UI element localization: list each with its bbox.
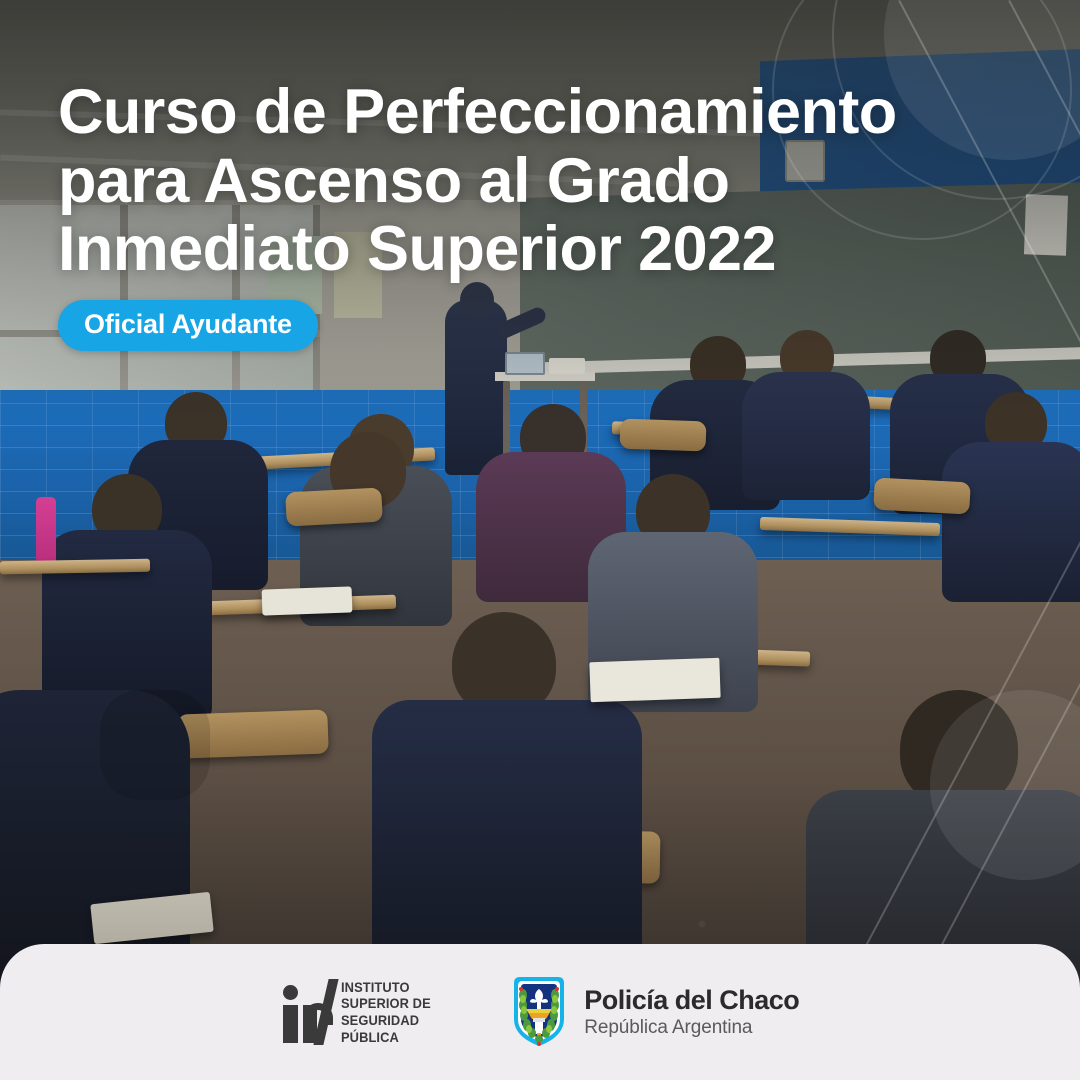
institute-line-1: INSTITUTO — [341, 979, 431, 996]
water-bottle — [36, 497, 56, 567]
student-body — [942, 442, 1080, 602]
chair-back — [873, 478, 971, 515]
i-dot — [283, 985, 298, 1000]
hero-text-block: Curso de Perfeccionamiento para Ascenso … — [58, 78, 1048, 351]
footer-bar: INSTITUTO SUPERIOR DE SEGURIDAD PÚBLICA — [0, 944, 1080, 1080]
institute-line-2: SUPERIOR DE — [341, 995, 431, 1012]
title-line-1: Curso de Perfeccionamiento — [58, 78, 1048, 147]
institute-line-4: PÚBLICA — [341, 1029, 431, 1046]
institute-logo-text: INSTITUTO SUPERIOR DE SEGURIDAD PÚBLICA — [341, 979, 439, 1045]
i-stem — [283, 1005, 298, 1043]
chair-back — [620, 419, 707, 452]
police-logo: Policía del Chaco República Argentina — [510, 975, 799, 1049]
institute-logo: INSTITUTO SUPERIOR DE SEGURIDAD PÚBLICA — [281, 979, 439, 1045]
institute-line-3: SEGURIDAD — [341, 1012, 431, 1029]
police-name: Policía del Chaco — [584, 985, 799, 1016]
chair-back — [285, 488, 383, 527]
police-logo-text: Policía del Chaco República Argentina — [584, 985, 799, 1038]
in-monogram-icon — [281, 981, 337, 1043]
notebook-paper — [589, 658, 720, 703]
notebook-paper — [262, 586, 353, 615]
police-subtitle: República Argentina — [584, 1017, 799, 1039]
desk — [0, 559, 150, 575]
title-line-3: Inmediato Superior 2022 — [58, 215, 1048, 284]
chair-back — [177, 709, 328, 758]
page-title: Curso de Perfeccionamiento para Ascenso … — [58, 78, 1048, 284]
poster-canvas: Curso de Perfeccionamiento para Ascenso … — [0, 0, 1080, 1080]
title-line-2: para Ascenso al Grado — [58, 147, 1048, 216]
police-shield-crest-icon — [510, 975, 568, 1049]
status-badge: Oficial Ayudante — [58, 300, 318, 351]
